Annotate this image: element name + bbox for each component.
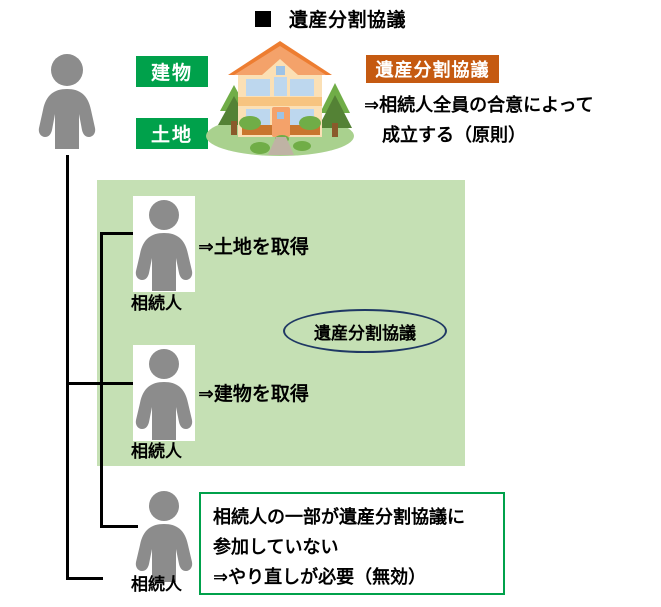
heir-1-result-text: ⇒土地を取得 (198, 232, 309, 259)
invalid-agreement-line-2: 参加していない (213, 532, 491, 562)
heir-3-label: 相続人 (131, 570, 182, 595)
heir-2-person-icon (133, 345, 195, 441)
invalid-agreement-line-3: ⇒やり直しが必要（無効） (213, 562, 491, 592)
invalid-agreement-box: 相続人の一部が遺産分割協議に 参加していない ⇒やり直しが必要（無効） (199, 492, 505, 595)
heir-1-person-icon (133, 196, 195, 292)
heir-3-person-icon (133, 487, 195, 583)
heir-2-label: 相続人 (131, 437, 182, 462)
connector-bracket-vertical (100, 232, 103, 528)
page-title-text: 遺産分割協議 (289, 5, 406, 32)
house-illustration-icon (198, 33, 363, 158)
agreement-description-line-1: ⇒相続人全員の合意によって (364, 95, 594, 115)
page-title: 遺産分割協議 (255, 5, 406, 32)
connector-trunk-line (66, 155, 69, 580)
connector-branch-heir-2 (66, 382, 138, 385)
black-square-bullet-icon (255, 11, 271, 27)
heir-2-result-text: ⇒建物を取得 (198, 379, 309, 406)
agreement-ellipse-callout: 遺産分割協議 (283, 309, 447, 353)
agreement-badge: 遺産分割協議 (366, 55, 499, 83)
agreement-description-line-2: 成立する（原則） (364, 120, 654, 150)
invalid-agreement-line-1: 相続人の一部が遺産分割協議に (213, 502, 491, 532)
deceased-person-icon (36, 50, 98, 150)
connector-trunk-foot (66, 577, 103, 580)
diagram-canvas: 遺産分割協議 建物 土地 (0, 0, 661, 607)
agreement-description: ⇒相続人全員の合意によって 成立する（原則） (364, 90, 654, 150)
heir-1-label: 相続人 (131, 289, 182, 314)
